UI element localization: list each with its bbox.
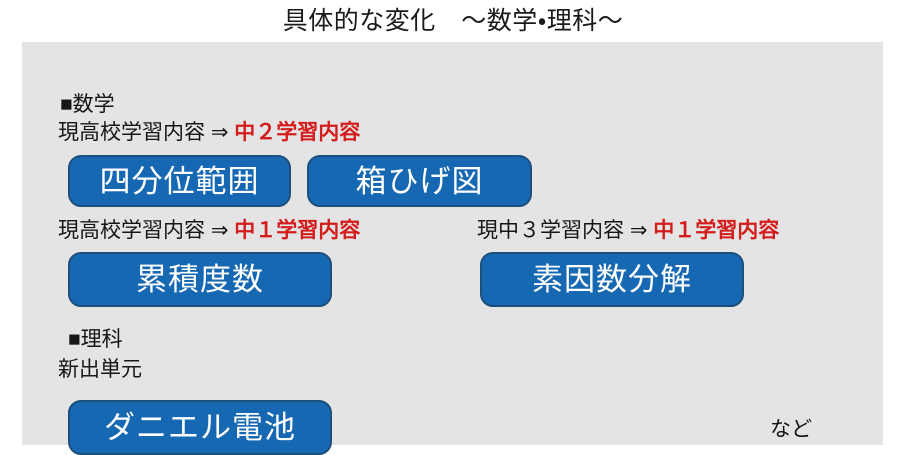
transfer-label-target: 中２学習内容 [234,121,360,144]
transfer-label-source: 現中３学習内容 ⇒ [477,219,653,242]
transfer-label-target: 中１学習内容 [234,219,360,242]
slide-canvas: 具体的な変化 〜数学・理科〜 ■数学 現高校学習内容 ⇒ 中２学習内容 四分位範… [0,0,906,454]
topic-chip-soinsu-bunkai[interactable]: 素因数分解 [480,252,744,307]
new-unit-label: 新出単元 [58,357,142,382]
section-heading-math: ■数学 [60,92,115,117]
page-title: 具体的な変化 〜数学・理科〜 [0,6,906,36]
etc-label: など [770,417,812,442]
topic-chip-daniell-denchi[interactable]: ダニエル電池 [68,400,332,455]
transfer-label-source: 現高校学習内容 ⇒ [58,219,234,242]
transfer-label-math-row1: 現高校学習内容 ⇒ 中２学習内容 [58,120,360,145]
transfer-label-math-row2-left: 現高校学習内容 ⇒ 中１学習内容 [58,218,360,243]
topic-chip-shibuni-hani[interactable]: 四分位範囲 [68,155,291,207]
transfer-label-source: 現高校学習内容 ⇒ [58,121,234,144]
topic-chip-hakohige-zu[interactable]: 箱ひげ図 [307,155,532,207]
topic-chip-ruiseki-dosuu[interactable]: 累積度数 [68,252,332,307]
transfer-label-target: 中１学習内容 [653,219,779,242]
content-panel: ■数学 現高校学習内容 ⇒ 中２学習内容 四分位範囲 箱ひげ図 現高校学習内容 … [22,42,883,445]
section-heading-science: ■理科 [68,327,123,352]
transfer-label-math-row2-right: 現中３学習内容 ⇒ 中１学習内容 [477,218,779,243]
